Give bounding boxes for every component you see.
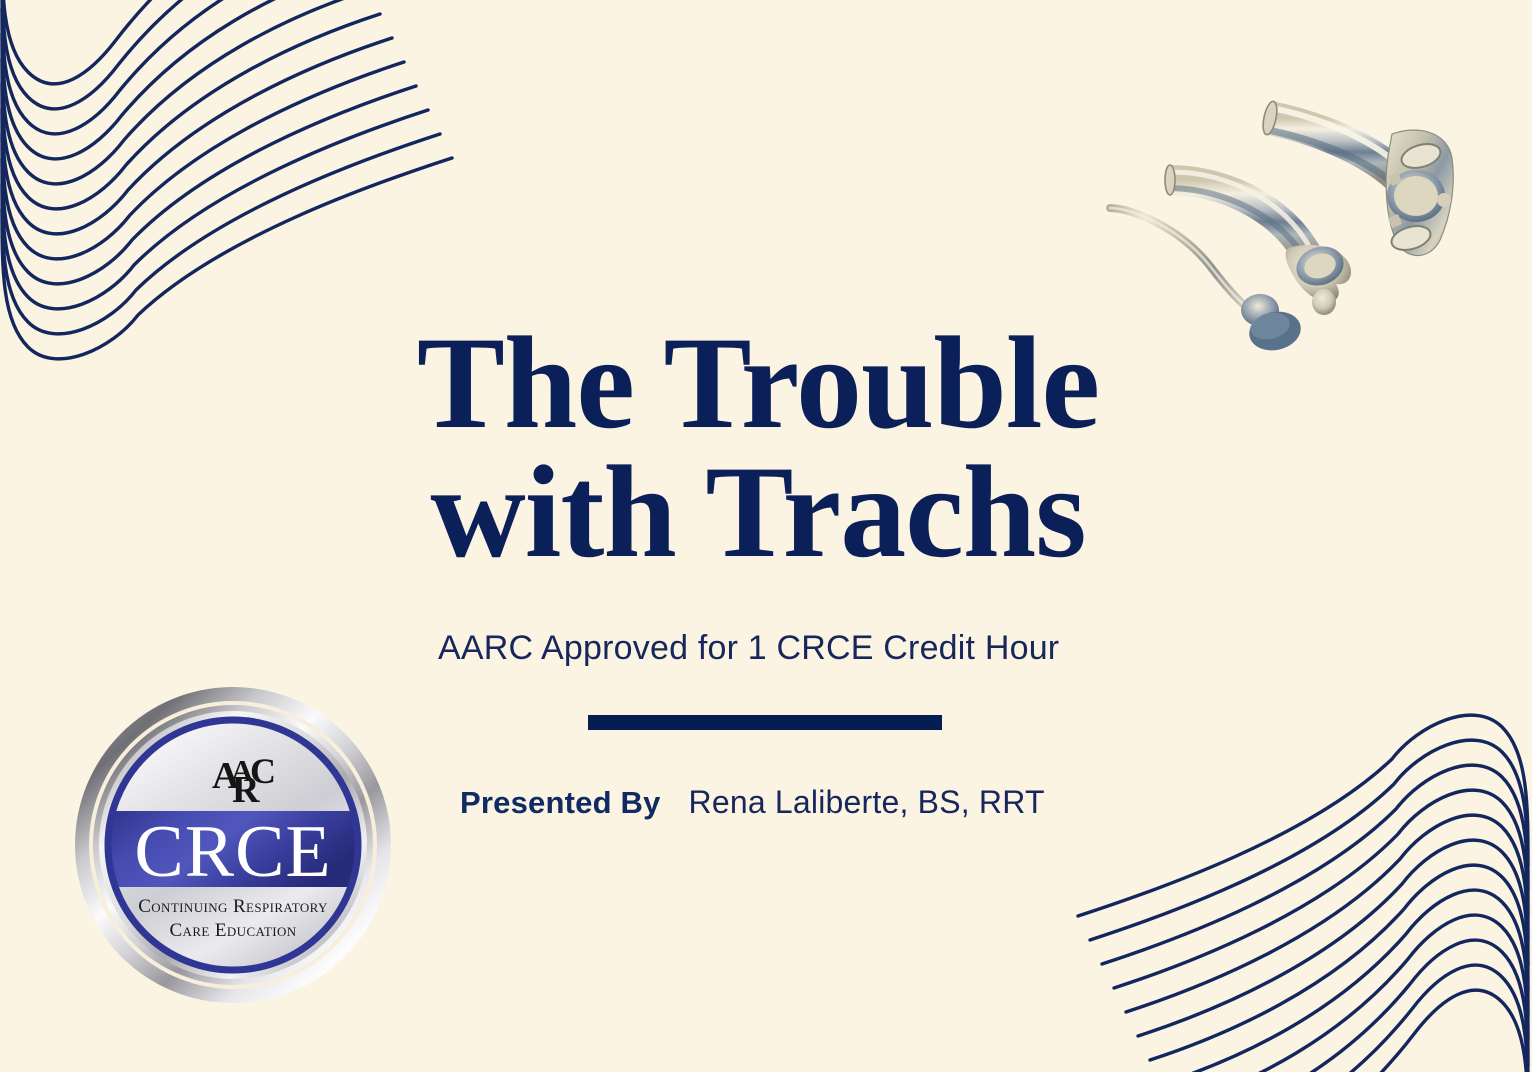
badge-program-acronym: CRCE [134,811,331,893]
tracheostomy-tubes-photo [1092,88,1492,373]
badge-tagline-line2: Care Education [169,920,296,941]
presenter-row: Presented By Rena Laliberte, BS, RRT [460,784,1128,821]
presented-by-label: Presented By [460,785,661,821]
svg-text:R: R [232,769,260,811]
crce-accreditation-badge: A A C R CRCE Continuing Respiratory Care… [72,684,394,1006]
divider-bar [588,715,942,730]
credit-subtitle: AARC Approved for 1 CRCE Credit Hour [438,629,1128,668]
slide-canvas: The Trouble with Trachs AARC Approved fo… [0,0,1532,1072]
presenter-name: Rena Laliberte, BS, RRT [689,784,1045,821]
badge-tagline-line1: Continuing Respiratory [138,896,328,917]
page-title: The Trouble with Trachs [388,318,1128,577]
slide-content: The Trouble with Trachs AARC Approved fo… [388,318,1128,821]
